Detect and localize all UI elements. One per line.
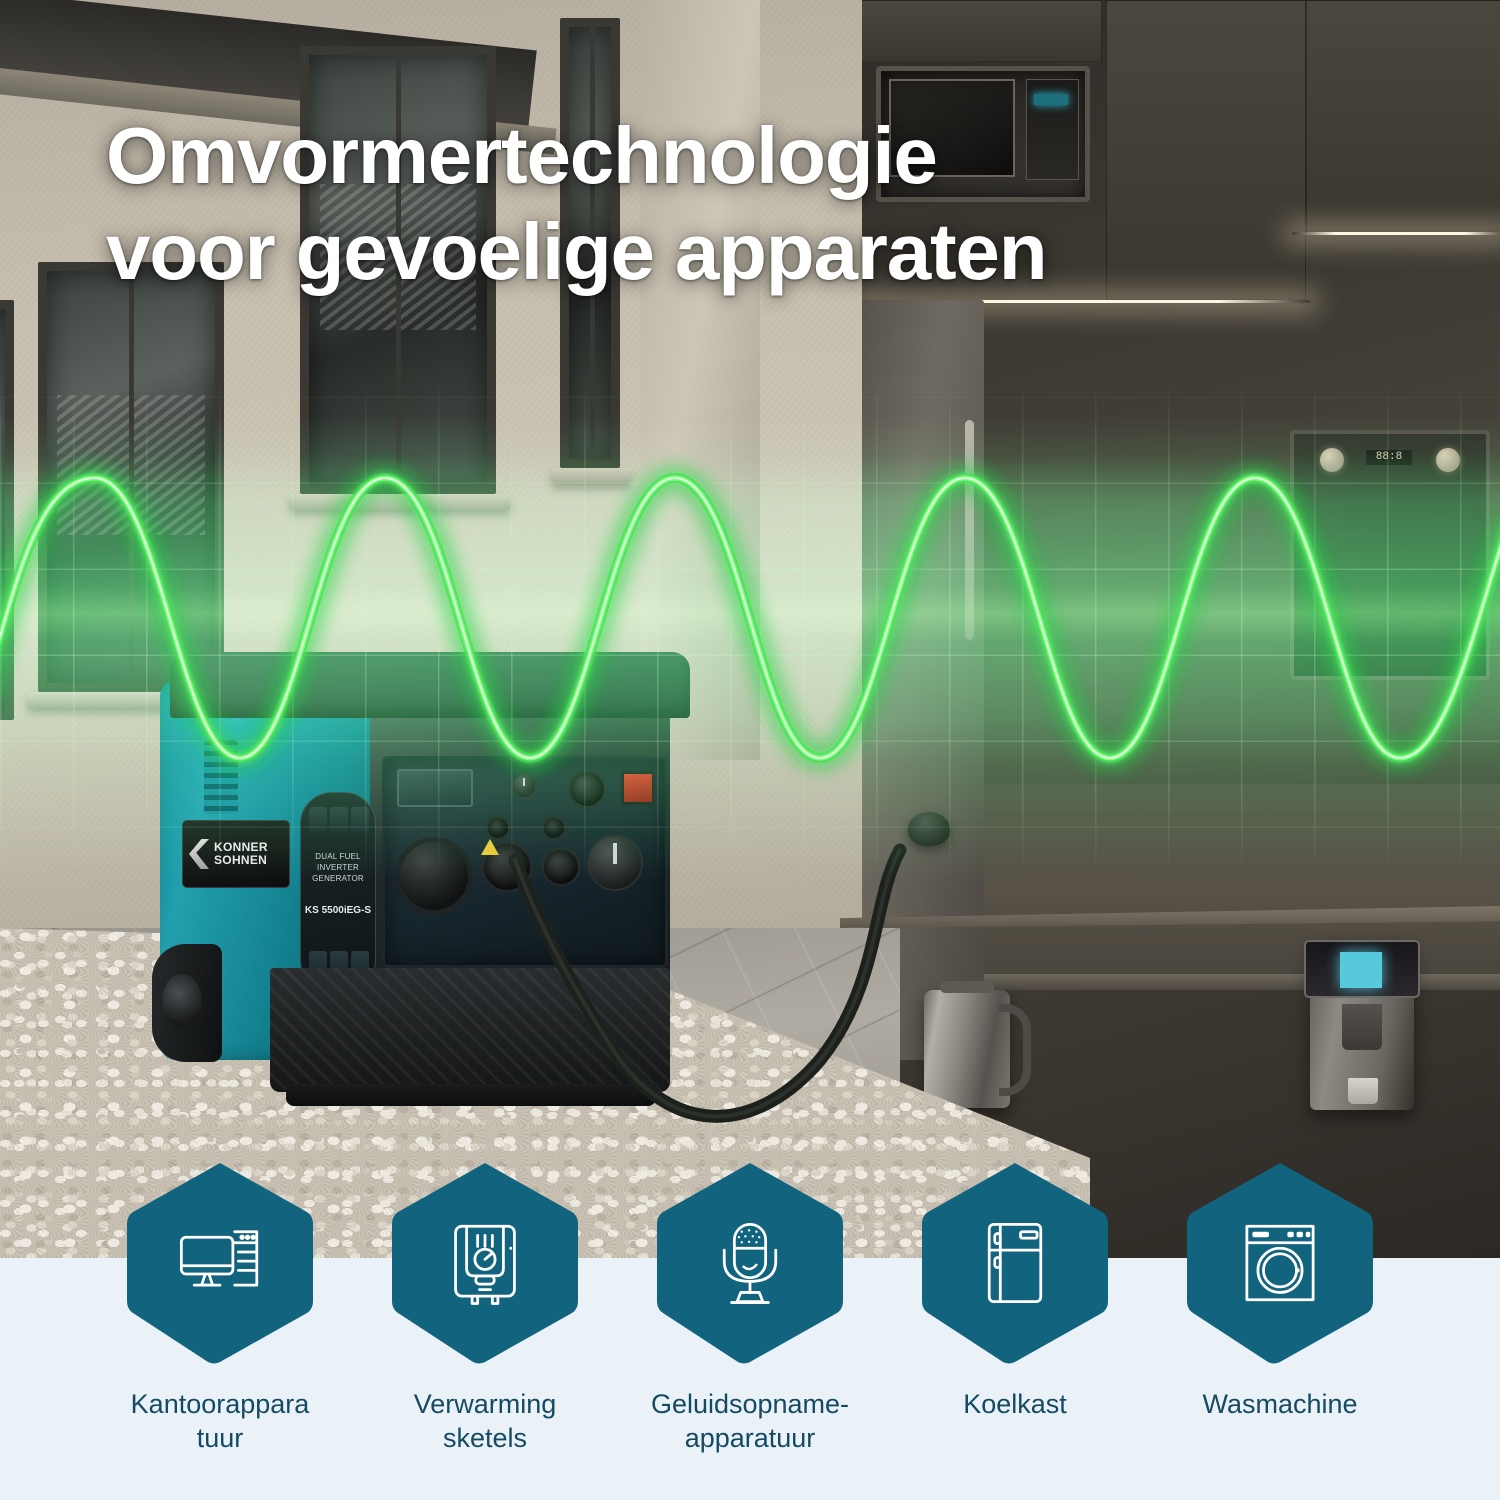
feature-label: Kantoorappara tuur — [125, 1387, 315, 1455]
feature-label: Verwarming sketels — [390, 1387, 580, 1455]
water-heater-icon — [390, 1160, 580, 1365]
features-row: Kantoorappara tuur — [0, 1160, 1500, 1500]
refrigerator-icon — [920, 1160, 1110, 1365]
feature-label: Koelkast — [963, 1387, 1067, 1421]
feature-item[interactable]: Wasmachine — [1185, 1160, 1375, 1421]
feature-label: Geluidsopname- apparatuur — [651, 1387, 849, 1455]
feature-item[interactable]: Kantoorappara tuur — [125, 1160, 315, 1455]
sine-wave-band — [0, 455, 1500, 765]
feature-item[interactable]: Geluidsopname- apparatuur — [655, 1160, 845, 1455]
feature-label: Wasmachine — [1202, 1387, 1357, 1421]
washing-machine-icon — [1185, 1160, 1375, 1365]
desktop-computer-icon — [125, 1160, 315, 1365]
feature-item[interactable]: Koelkast — [920, 1160, 1110, 1421]
feature-hex-wrap — [655, 1160, 845, 1365]
feature-item[interactable]: Verwarming sketels — [390, 1160, 580, 1455]
title-line-2: voor gevoelige apparaten — [106, 204, 1326, 300]
infographic-stage: 88:8 — [0, 0, 1500, 1500]
feature-hex-wrap — [920, 1160, 1110, 1365]
page-title: Omvormertechnologie voor gevoelige appar… — [106, 108, 1326, 300]
microphone-icon — [655, 1160, 845, 1365]
feature-hex-wrap — [1185, 1160, 1375, 1365]
title-line-1: Omvormertechnologie — [106, 111, 937, 200]
feature-hex-wrap — [390, 1160, 580, 1365]
feature-hex-wrap — [125, 1160, 315, 1365]
